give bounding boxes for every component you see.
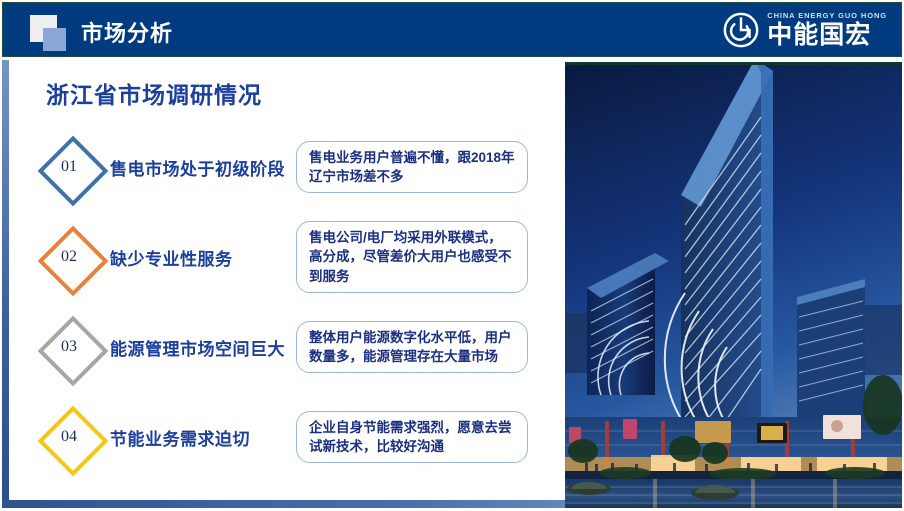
header-square-blue-icon (43, 28, 66, 51)
city-skyscraper-night-photo (565, 62, 902, 508)
item-number: 02 (61, 248, 77, 266)
list-item[interactable]: 02 缺少专业性服务 售电公司/电厂均采用外联模式，高分成，尽管差价大用户也感受… (36, 212, 556, 302)
item-label: 能源管理市场空间巨大 (110, 335, 296, 360)
energy-g-mark-icon (722, 11, 760, 49)
item-label: 售电市场处于初级阶段 (110, 155, 296, 180)
logo-chinese-text: 中能国宏 (767, 23, 887, 48)
item-number: 04 (61, 428, 77, 446)
item-note-bubble: 企业自身节能需求强烈，愿意去尝试新技术，比较好沟通 (296, 411, 528, 463)
item-note-bubble: 售电公司/电厂均采用外联模式，高分成，尽管差价大用户也感受不到服务 (296, 221, 528, 292)
item-label: 节能业务需求迫切 (110, 425, 296, 450)
diamond-badge-04: 04 (36, 404, 102, 470)
item-number: 01 (61, 158, 77, 176)
slide-header: 市场分析 CHINA ENERGY GUO HONG 中能国宏 (2, 2, 902, 57)
company-logo: CHINA ENERGY GUO HONG 中能国宏 (722, 11, 887, 49)
item-number: 03 (61, 338, 77, 356)
slide: 市场分析 CHINA ENERGY GUO HONG 中能国宏 浙江省市场调研情… (0, 0, 904, 511)
list-item[interactable]: 04 节能业务需求迫切 企业自身节能需求强烈，愿意去尝试新技术，比较好沟通 (36, 392, 556, 482)
item-label: 缺少专业性服务 (110, 245, 296, 270)
item-note-bubble: 售电业务用户普遍不懂，跟2018年辽宁市场差不多 (296, 141, 528, 193)
item-note-bubble: 整体用户能源数字化水平低，用户数量多，能源管理存在大量市场 (296, 321, 528, 373)
diamond-badge-01: 01 (36, 134, 102, 200)
list-item[interactable]: 03 能源管理市场空间巨大 整体用户能源数字化水平低，用户数量多，能源管理存在大… (36, 302, 556, 392)
section-title: 浙江省市场调研情况 (46, 76, 262, 110)
page-title: 市场分析 (81, 16, 173, 48)
left-accent-bar (2, 60, 9, 500)
diamond-badge-03: 03 (36, 314, 102, 380)
list-item[interactable]: 01 售电市场处于初级阶段 售电业务用户普遍不懂，跟2018年辽宁市场差不多 (36, 122, 556, 212)
findings-list: 01 售电市场处于初级阶段 售电业务用户普遍不懂，跟2018年辽宁市场差不多 0… (36, 122, 556, 482)
logo-english-text: CHINA ENERGY GUO HONG (767, 12, 887, 20)
diamond-badge-02: 02 (36, 224, 102, 290)
